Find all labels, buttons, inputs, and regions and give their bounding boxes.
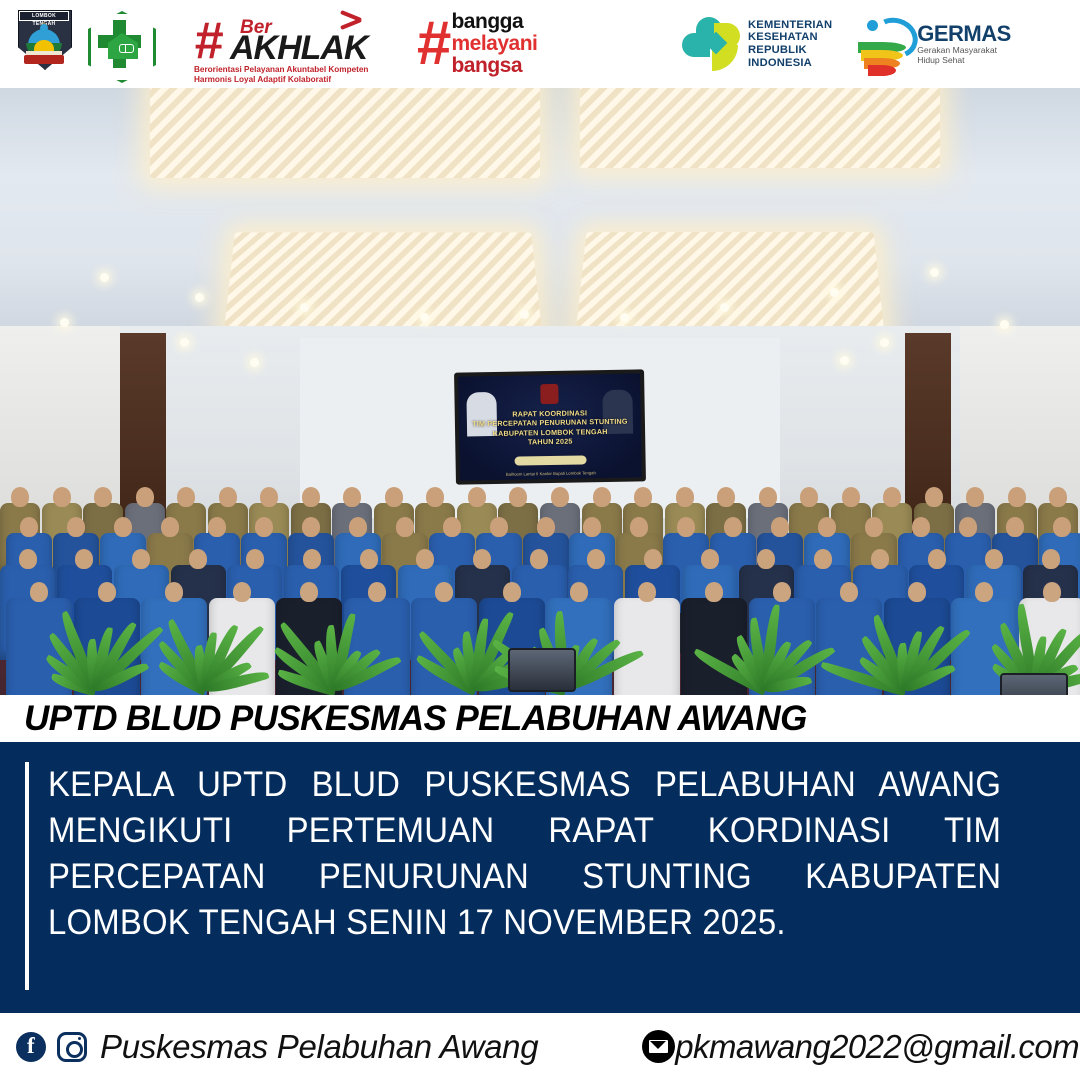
ceiling-downlight <box>195 293 204 302</box>
attendee-head <box>985 549 1003 569</box>
ceiling-downlight <box>180 338 189 347</box>
berakhlak-tagline: Berorientasi Pelayanan Akuntabel Kompete… <box>194 65 368 84</box>
bangga-word-3: bangsa <box>451 55 537 77</box>
lombok-tengah-crest-icon: LOMBOK TENGAH ★ <box>12 7 76 81</box>
attendee-head <box>701 549 719 569</box>
attendee-head <box>260 487 278 507</box>
attendee-head <box>94 487 112 507</box>
attendee-head <box>975 582 993 602</box>
ceiling-downlight <box>100 273 109 282</box>
attendee-head <box>1053 517 1071 537</box>
header-logo-bar: LOMBOK TENGAH ★ # Ber AKHLAK <box>0 0 1080 88</box>
kemenkes-logo: KEMENTERIAN KESEHATAN REPUBLIK INDONESIA <box>682 15 832 73</box>
page-title: UPTD BLUD PUSKESMAS PELABUHAN AWANG <box>0 699 807 739</box>
bangga-melayani-bangsa-logo: # bangga melayani bangsa <box>416 5 626 83</box>
ceiling-downlight <box>880 338 889 347</box>
screen-emblem-icon <box>540 384 558 404</box>
attendee-head <box>343 487 361 507</box>
header-left-logos: LOMBOK TENGAH ★ <box>0 7 154 81</box>
screen-text: RAPAT KOORDINASI TIM PERCEPATAN PENURUNA… <box>459 407 642 448</box>
attendee-head <box>644 549 662 569</box>
attendee-head <box>360 549 378 569</box>
attendee-head <box>473 549 491 569</box>
attendee-head <box>818 517 836 537</box>
germas-sub-1: Gerakan Masyarakat <box>917 45 1011 55</box>
attendee-head <box>583 517 601 537</box>
kemenkes-wordmark: KEMENTERIAN KESEHATAN REPUBLIK INDONESIA <box>748 19 832 69</box>
attendee-head <box>75 549 93 569</box>
attendee-head <box>219 487 237 507</box>
attendee-head <box>1043 582 1061 602</box>
attendee-head <box>1008 487 1026 507</box>
ceiling-downlight <box>250 358 259 367</box>
berakhlak-arrow-icon <box>340 13 366 29</box>
attendee-head <box>303 549 321 569</box>
attendee-head <box>490 517 508 537</box>
attendee-head <box>717 487 735 507</box>
attendee-head <box>255 517 273 537</box>
attendee-head <box>1042 549 1060 569</box>
attendee-head <box>67 517 85 537</box>
attendee-head <box>509 487 527 507</box>
attendee-head <box>587 549 605 569</box>
attendee-head <box>443 517 461 537</box>
attendee-head <box>842 487 860 507</box>
kemenkes-line-1: KEMENTERIAN <box>748 19 832 32</box>
kemenkes-petal-icon <box>682 15 742 73</box>
attendee-head <box>724 517 742 537</box>
attendee-head <box>865 517 883 537</box>
attendee-head <box>302 517 320 537</box>
caption-accent-bar <box>25 762 29 990</box>
attendee-head <box>189 549 207 569</box>
attendee-head <box>530 549 548 569</box>
attendee <box>141 598 207 695</box>
germas-wordmark: GERMAS Gerakan Masyarakat Hidup Sehat <box>917 23 1011 65</box>
ceiling-downlight <box>1000 320 1009 329</box>
attendee-head <box>435 582 453 602</box>
attendee-head <box>396 517 414 537</box>
attendee <box>276 598 342 695</box>
event-photo: RAPAT KOORDINASI TIM PERCEPATAN PENURUNA… <box>0 88 1080 695</box>
attendee <box>74 598 140 695</box>
poster-root: LOMBOK TENGAH ★ # Ber AKHLAK <box>0 0 1080 1080</box>
title-band: UPTD BLUD PUSKESMAS PELABUHAN AWANG <box>0 695 1080 742</box>
attendee-head <box>1006 517 1024 537</box>
attendee-head <box>773 582 791 602</box>
attendee <box>411 598 477 695</box>
attendee-head <box>468 487 486 507</box>
berakhlak-main-text: AKHLAK <box>230 31 368 65</box>
attendee <box>209 598 275 695</box>
caption-text: KEPALA UPTD BLUD PUSKESMAS PELABUHAN AWA… <box>48 762 1001 946</box>
attendee-head <box>19 549 37 569</box>
germas-logo: GERMAS Gerakan Masyarakat Hidup Sehat <box>850 14 1011 74</box>
attendee-head <box>20 517 38 537</box>
caption-block: KEPALA UPTD BLUD PUSKESMAS PELABUHAN AWA… <box>0 742 1080 1013</box>
attendee-head <box>302 487 320 507</box>
attendee-head <box>11 487 29 507</box>
attendee-head <box>368 582 386 602</box>
attendee-head <box>1049 487 1067 507</box>
ceiling-downlight <box>830 288 839 297</box>
bangga-word-2: melayani <box>451 33 537 55</box>
attendee-head <box>928 549 946 569</box>
attendee <box>614 598 680 695</box>
attendee-head <box>757 549 775 569</box>
bangga-words: bangga melayani bangsa <box>451 11 537 77</box>
attendee-head <box>30 582 48 602</box>
instagram-icon[interactable] <box>57 1032 87 1062</box>
germas-sub-2: Hidup Sehat <box>917 55 1011 65</box>
attendee-head <box>53 487 71 507</box>
email-group[interactable]: pkmawang2022@gmail.com <box>642 1028 1079 1066</box>
bangga-hash-icon: # <box>416 16 445 72</box>
berakhlak-tagline-line1: Berorientasi Pelayanan Akuntabel Kompete… <box>194 65 368 75</box>
screen-pill <box>515 455 587 465</box>
germas-figure-icon <box>850 14 912 74</box>
attendee <box>884 598 950 695</box>
attendee-head <box>959 517 977 537</box>
email-icon[interactable] <box>642 1030 675 1063</box>
ceiling-downlight <box>420 313 429 322</box>
attendee-head <box>634 487 652 507</box>
attendee-head <box>349 517 367 537</box>
ceiling-downlight <box>520 310 529 319</box>
attendee-head <box>161 517 179 537</box>
attendee-head <box>676 487 694 507</box>
presentation-screen: RAPAT KOORDINASI TIM PERCEPATAN PENURUNA… <box>454 369 646 484</box>
attendee-head <box>925 487 943 507</box>
attendee-head <box>551 487 569 507</box>
attendee-head <box>165 582 183 602</box>
attendee-head <box>537 517 555 537</box>
social-handle: Puskesmas Pelabuhan Awang <box>100 1028 538 1066</box>
attendee-head <box>300 582 318 602</box>
attendee-head <box>593 487 611 507</box>
bangga-word-1: bangga <box>451 11 537 33</box>
ceiling-light-panel <box>580 88 940 168</box>
attendee-head <box>114 517 132 537</box>
attendee-head <box>840 582 858 602</box>
attendee-head <box>771 517 789 537</box>
attendee-head <box>966 487 984 507</box>
berakhlak-hash-icon: # <box>194 15 220 67</box>
attendee-head <box>132 549 150 569</box>
email-address: pkmawang2022@gmail.com <box>675 1028 1079 1066</box>
ceiling-downlight <box>720 303 729 312</box>
attendee-head <box>814 549 832 569</box>
berakhlak-tagline-line2: Harmonis Loyal Adaptif Kolaboratif <box>194 75 368 85</box>
attendee <box>749 598 815 695</box>
ceiling-downlight <box>60 318 69 327</box>
stage-monitor-speaker <box>508 648 576 692</box>
germas-title: GERMAS <box>917 23 1011 45</box>
ceiling-light-panel <box>150 88 540 178</box>
ceiling-downlight <box>840 356 849 365</box>
kemenkes-line-4: INDONESIA <box>748 57 832 70</box>
attendee-head <box>800 487 818 507</box>
attendee-head <box>570 582 588 602</box>
attendee <box>344 598 410 695</box>
attendee-head <box>426 487 444 507</box>
berakhlak-logo: # Ber AKHLAK Berorientasi Pelayanan Akun… <box>194 7 390 81</box>
ceiling-downlight <box>930 268 939 277</box>
attendee-head <box>416 549 434 569</box>
stage-monitor-speaker <box>1000 673 1068 695</box>
ceiling-downlight <box>300 303 309 312</box>
attendee-head <box>177 487 195 507</box>
puskesmas-hexagon-icon <box>86 7 154 81</box>
attendee-head <box>246 549 264 569</box>
attendee-head <box>630 517 648 537</box>
attendee <box>6 598 72 695</box>
ceiling-downlight <box>620 313 629 322</box>
attendee-head <box>883 487 901 507</box>
attendee-head <box>759 487 777 507</box>
attendee-head <box>638 582 656 602</box>
attendee-head <box>912 517 930 537</box>
attendee-head <box>871 549 889 569</box>
footer-contact-bar: Puskesmas Pelabuhan Awang pkmawang2022@g… <box>0 1013 1080 1080</box>
facebook-icon[interactable] <box>16 1032 46 1062</box>
attendee-head <box>98 582 116 602</box>
kemenkes-line-2: KESEHATAN <box>748 31 832 44</box>
attendee-head <box>677 517 695 537</box>
attendee-head <box>136 487 154 507</box>
attendee <box>681 598 747 695</box>
attendee-head <box>385 487 403 507</box>
attendee-head <box>705 582 723 602</box>
attendee-head <box>503 582 521 602</box>
attendee-head <box>208 517 226 537</box>
attendee <box>816 598 882 695</box>
kemenkes-line-3: REPUBLIK <box>748 44 832 57</box>
attendee-head <box>233 582 251 602</box>
attendee-head <box>908 582 926 602</box>
